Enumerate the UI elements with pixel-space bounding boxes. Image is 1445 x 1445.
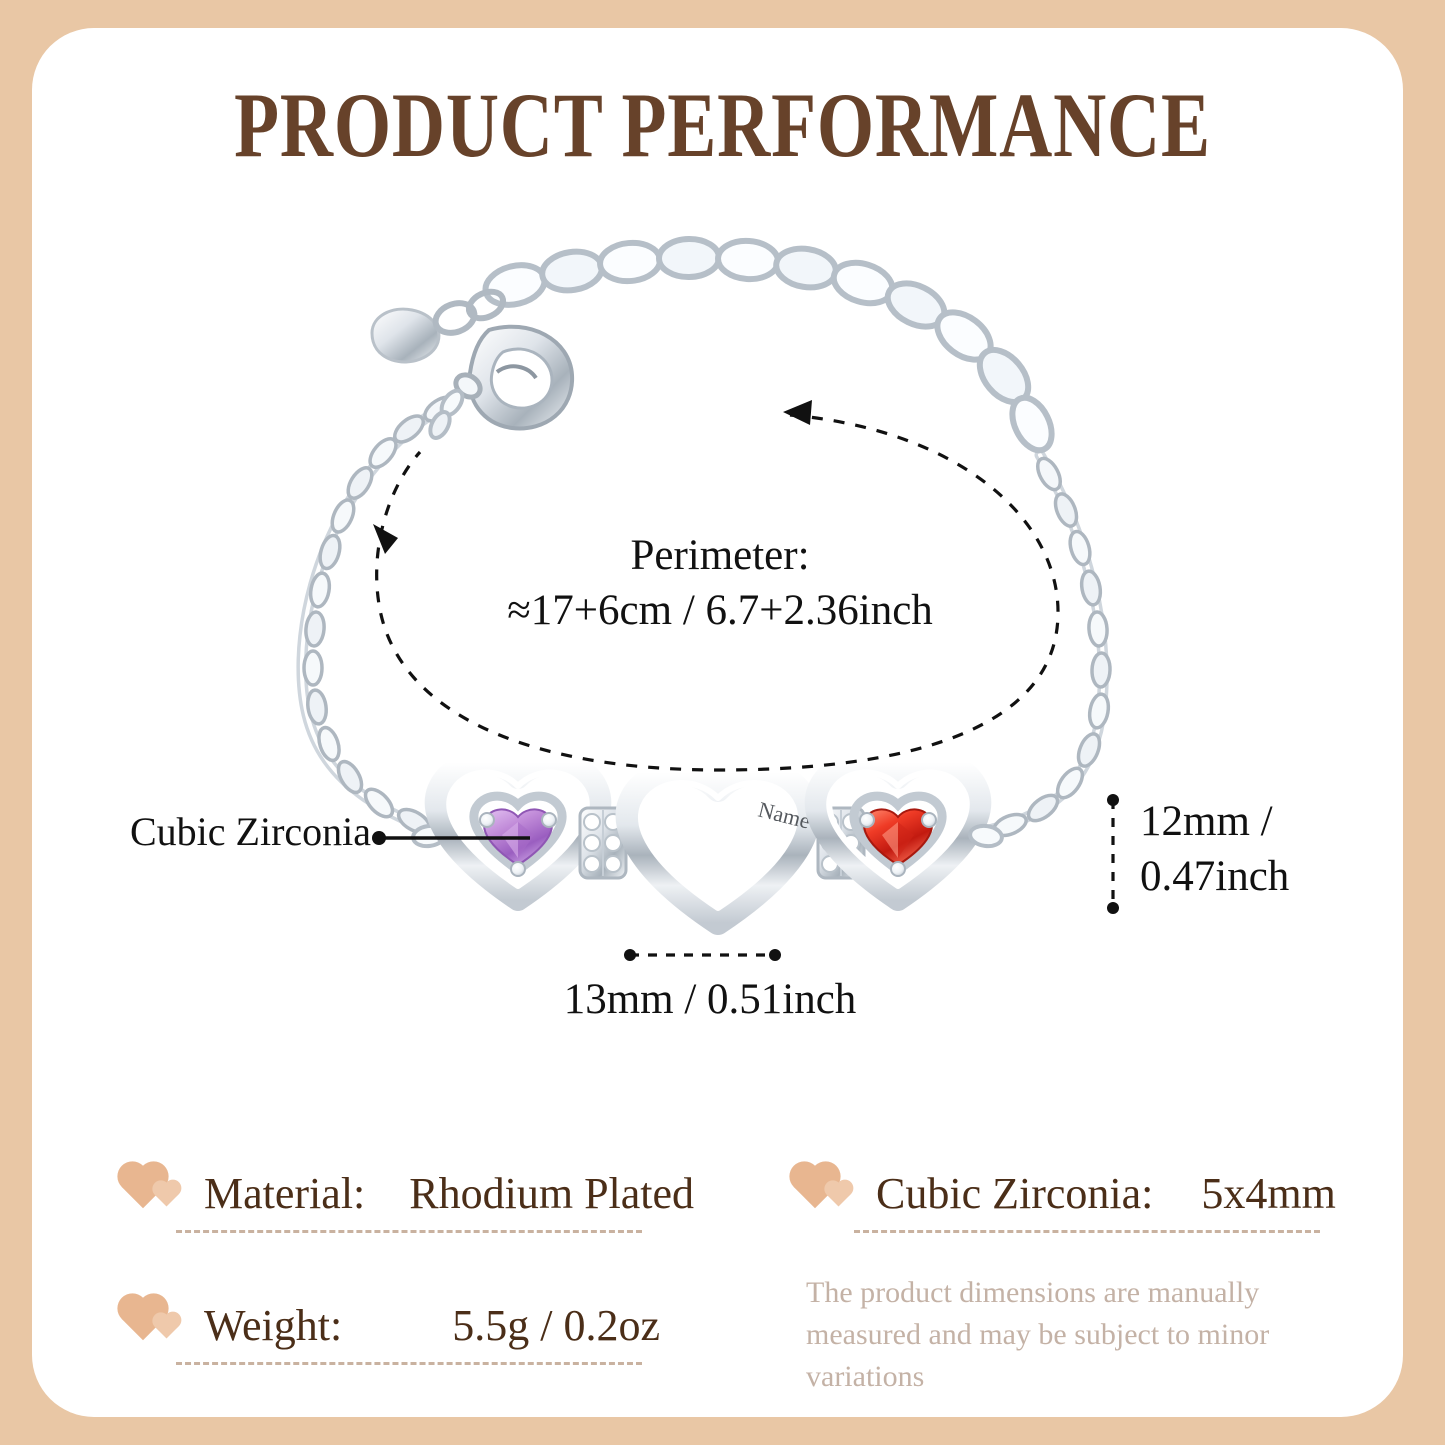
measurement-disclaimer: The product dimensions are manually meas… [806, 1272, 1326, 1398]
hearts-bullet-icon [128, 1300, 190, 1344]
perimeter-annotation: Perimeter: ≈17+6cm / 6.7+2.36inch [440, 528, 1000, 638]
spec-divider-material [176, 1230, 642, 1233]
spec-label-cubic-zirconia: Cubic Zirconia: [876, 1168, 1153, 1219]
spec-divider-cubic-zirconia [854, 1230, 1320, 1233]
perimeter-value: ≈17+6cm / 6.7+2.36inch [440, 583, 1000, 638]
height-value-line2: 0.47inch [1140, 849, 1289, 904]
perimeter-label: Perimeter: [440, 528, 1000, 583]
spec-value-material: Rhodium Plated [409, 1168, 694, 1219]
cubic-zirconia-callout-label: Cubic Zirconia [130, 808, 371, 855]
spec-value-weight: 5.5g / 0.2oz [452, 1300, 660, 1351]
spec-value-cubic-zirconia: 5x4mm [1201, 1168, 1335, 1219]
page-title: PRODUCT PERFORMANCE [145, 72, 1301, 178]
spec-divider-weight [176, 1362, 642, 1365]
height-value-line1: 12mm / [1140, 794, 1289, 849]
infographic-canvas: PRODUCT PERFORMANCE [0, 0, 1445, 1445]
spec-row-cubic-zirconia: Cubic Zirconia: 5x4mm [800, 1164, 1336, 1219]
spec-label-material: Material: [204, 1168, 365, 1219]
height-measure-label: 12mm / 0.47inch [1140, 794, 1289, 904]
spec-row-material: Material: Rhodium Plated [128, 1164, 694, 1219]
spec-row-weight: Weight: 5.5g / 0.2oz [128, 1296, 660, 1351]
hearts-bullet-icon [128, 1168, 190, 1212]
width-measure-label: 13mm / 0.51inch [460, 975, 960, 1024]
spec-label-weight: Weight: [204, 1300, 342, 1351]
hearts-bullet-icon [800, 1168, 862, 1212]
